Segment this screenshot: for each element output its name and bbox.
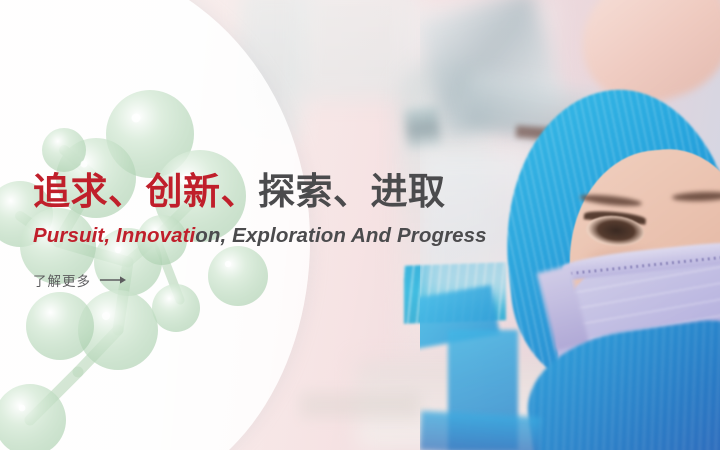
hero-banner: 追求、创新、探索、进取 Pursuit, Innovation, Explora… [0,0,720,450]
arrow-right-icon [100,275,126,285]
learn-more-label: 了解更多 [33,270,91,290]
banner-copy: 追求、创新、探索、进取 Pursuit, Innovation, Explora… [33,172,693,291]
page-title: 追求、创新、探索、进取 [33,172,693,212]
learn-more-link[interactable]: 了解更多 [33,270,126,290]
subtitle-accent-text: Pursuit, Innovati [33,224,195,247]
page-subtitle: Pursuit, Innovation, Exploration And Pro… [33,224,693,248]
subtitle-rest-text: on, Exploration And Progress [195,224,486,247]
blue-fabric-fragment-3 [420,411,541,450]
lab-shelf-lower [300,392,420,418]
headline-accent-text: 追求、创新、 [33,171,258,212]
lab-equipment-blur-2 [296,0,416,100]
headline-rest-text: 探索、进取 [258,171,446,212]
